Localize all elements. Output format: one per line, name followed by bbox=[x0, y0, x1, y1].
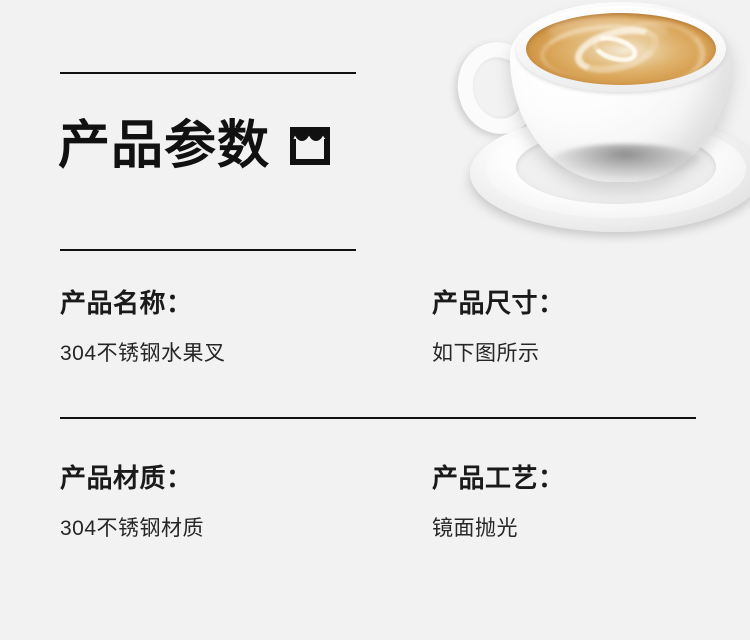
divider-below-title bbox=[60, 249, 356, 251]
product-spec-page: 产品参数 产品名称： 304不锈钢水果叉 产品尺寸： 如下图所示 产品材质： 3… bbox=[0, 0, 750, 594]
saucer-well bbox=[516, 130, 716, 204]
saucer-shadow bbox=[462, 142, 750, 234]
page-title: 产品参数 bbox=[58, 120, 332, 172]
spec-value: 如下图所示 bbox=[432, 343, 565, 364]
cup-base-shadow bbox=[550, 144, 700, 178]
spec-row: 产品材质： 304不锈钢材质 产品工艺： 镜面抛光 bbox=[0, 465, 750, 640]
store-icon bbox=[288, 125, 332, 167]
latte-art-swirl-inner bbox=[590, 31, 641, 67]
spec-value: 镜面抛光 bbox=[432, 518, 565, 539]
coffee-crema bbox=[526, 13, 716, 85]
spec-value: 304不锈钢材质 bbox=[60, 518, 204, 539]
spec-value: 304不锈钢水果叉 bbox=[60, 343, 226, 364]
spec-cell-product-material: 产品材质： 304不锈钢材质 bbox=[60, 465, 204, 539]
cup-handle bbox=[449, 34, 548, 141]
spec-label: 产品工艺： bbox=[432, 465, 565, 491]
page-title-text: 产品参数 bbox=[58, 120, 270, 172]
spec-grid: 产品名称： 304不锈钢水果叉 产品尺寸： 如下图所示 产品材质： 304不锈钢… bbox=[0, 290, 750, 640]
spec-label: 产品材质： bbox=[60, 465, 204, 491]
spec-label: 产品尺寸： bbox=[432, 290, 565, 316]
coffee-cup bbox=[510, 2, 732, 182]
spec-label: 产品名称： bbox=[60, 290, 226, 316]
crema-streak bbox=[538, 19, 663, 81]
crema-streak bbox=[614, 14, 711, 85]
spec-cell-product-craft: 产品工艺： 镜面抛光 bbox=[432, 465, 565, 539]
crema-highlight bbox=[548, 17, 668, 45]
divider-above-title bbox=[60, 72, 356, 74]
latte-art-swirl bbox=[570, 19, 664, 81]
coffee-cup-photo bbox=[400, 0, 750, 244]
saucer-rim bbox=[486, 120, 746, 218]
spec-cell-product-size: 产品尺寸： 如下图所示 bbox=[432, 290, 565, 364]
spec-row: 产品名称： 304不锈钢水果叉 产品尺寸： 如下图所示 bbox=[0, 290, 750, 465]
saucer bbox=[470, 114, 750, 232]
spec-cell-product-name: 产品名称： 304不锈钢水果叉 bbox=[60, 290, 226, 364]
cup-rim bbox=[516, 6, 726, 92]
